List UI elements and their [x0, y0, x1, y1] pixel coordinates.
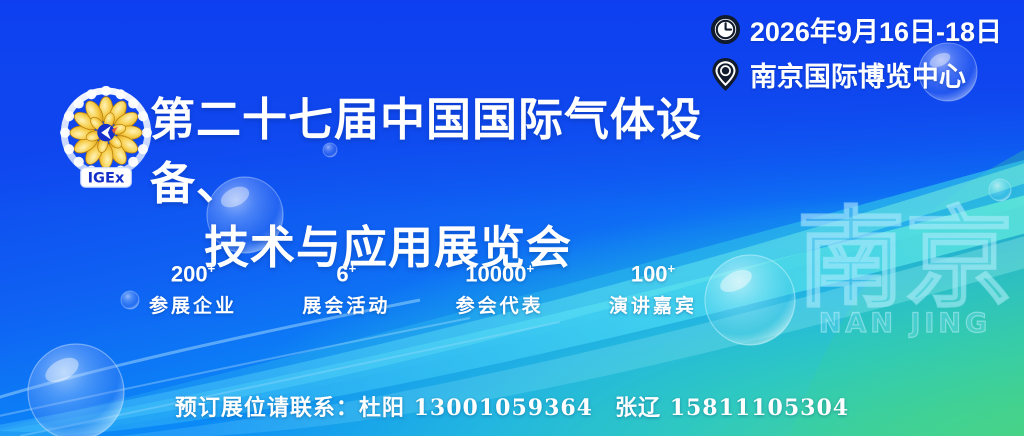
- stat-label-2: 参会代表: [425, 291, 575, 318]
- stat-item-0: 200+ 参展企业: [118, 262, 268, 318]
- igex-logo: IGEx: [57, 86, 155, 191]
- contact-line: 预订展位请联系：杜阳 13001059364张辽 15811105304: [0, 390, 1024, 422]
- watermark-en: NAN JING: [819, 308, 991, 339]
- igex-badge: IGEx: [81, 168, 132, 187]
- stat-item-2: 10000+ 参会代表: [425, 262, 575, 318]
- stats-row: 200+ 参展企业 6+ 展会活动 10000+ 参会代表 100+ 演讲嘉宾: [118, 262, 728, 318]
- event-date-text: 2026年9月16日-18日: [750, 10, 1002, 49]
- stat-number-1: 6+: [271, 262, 421, 285]
- contact-person-1-name: 杜阳: [359, 395, 405, 421]
- stat-label-3: 演讲嘉宾: [578, 291, 728, 318]
- stat-item-1: 6+ 展会活动: [271, 262, 421, 318]
- igex-badge-text: IGEx: [88, 169, 125, 186]
- event-date-row: 2026年9月16日-18日: [709, 10, 1002, 49]
- location-pin-icon: [709, 56, 742, 93]
- contact-person-2-name: 张辽: [615, 395, 661, 421]
- event-info: 2026年9月16日-18日 南京国际博览中心: [709, 10, 1002, 100]
- clock-icon: [709, 13, 742, 46]
- exhibition-banner: 南京 NAN JING: [0, 0, 1024, 436]
- stat-number-2: 10000+: [425, 262, 575, 285]
- stat-number-0: 200+: [118, 262, 268, 285]
- contact-person-2-phone: 15811105304: [670, 395, 849, 421]
- contact-person-1-phone: 13001059364: [414, 395, 593, 421]
- title-line-1: 第二十七届中国国际气体设备、: [150, 88, 710, 216]
- contact-prefix: 预订展位请联系：: [175, 395, 359, 421]
- event-venue-text: 南京国际博览中心: [750, 55, 966, 94]
- page-title: 第二十七届中国国际气体设备、 技术与应用展览会: [150, 88, 710, 280]
- watermark-cn: 南京: [797, 197, 1013, 322]
- watermark-nanjing: 南京 NAN JING: [797, 197, 1013, 339]
- bubble-small-c: [989, 179, 1011, 201]
- stat-number-3: 100+: [578, 262, 728, 285]
- stat-label-1: 展会活动: [271, 291, 421, 318]
- stat-label-0: 参展企业: [118, 291, 268, 318]
- stat-item-3: 100+ 演讲嘉宾: [578, 262, 728, 318]
- event-venue-row: 南京国际博览中心: [709, 55, 1002, 94]
